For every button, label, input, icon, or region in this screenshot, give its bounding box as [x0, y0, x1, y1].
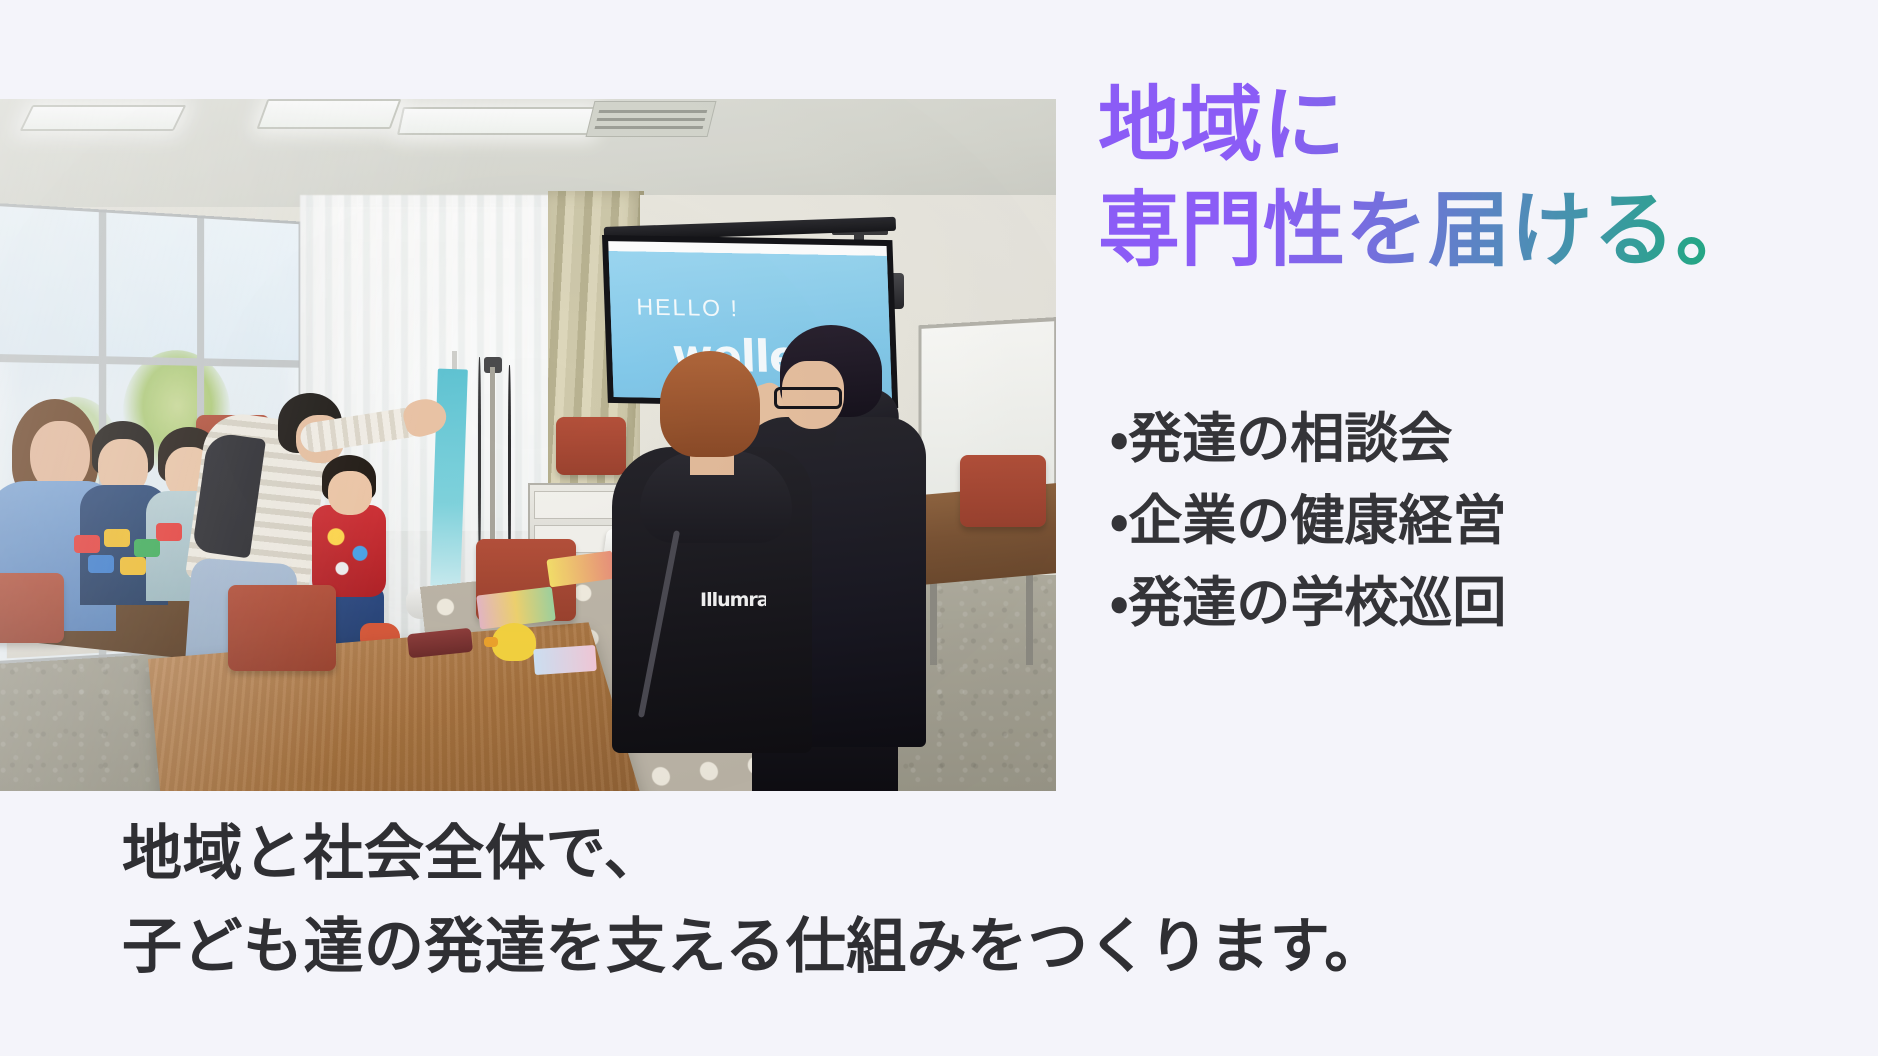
slide-root: HELLO ! welleap: [0, 0, 1878, 1056]
photo-scene: HELLO ! welleap: [0, 99, 1056, 791]
caption-line-2: 子ども達の発達を支える仕組みをつくります。: [122, 901, 1822, 994]
hero-photo: HELLO ! welleap: [0, 99, 1056, 791]
caption-line-1: 地域と社会全体で、: [122, 808, 1822, 901]
bottom-caption: 地域と社会全体で、 子ども達の発達を支える仕組みをつくります。: [122, 808, 1822, 994]
list-item: ・発達の学校巡回: [1110, 562, 1870, 644]
list-item: ・企業の健康経営: [1110, 480, 1870, 562]
photo-color-grade: [0, 99, 1056, 791]
list-item: ・発達の相談会: [1110, 398, 1870, 480]
headline: 地域に 専門性を届ける。: [1098, 74, 1878, 284]
service-list: ・発達の相談会 ・企業の健康経営 ・発達の学校巡回: [1110, 398, 1870, 644]
headline-line-1: 地域に: [1098, 74, 1878, 179]
service-list-ul: ・発達の相談会 ・企業の健康経営 ・発達の学校巡回: [1110, 398, 1870, 644]
headline-line-2: 専門性を届ける。: [1098, 179, 1878, 284]
